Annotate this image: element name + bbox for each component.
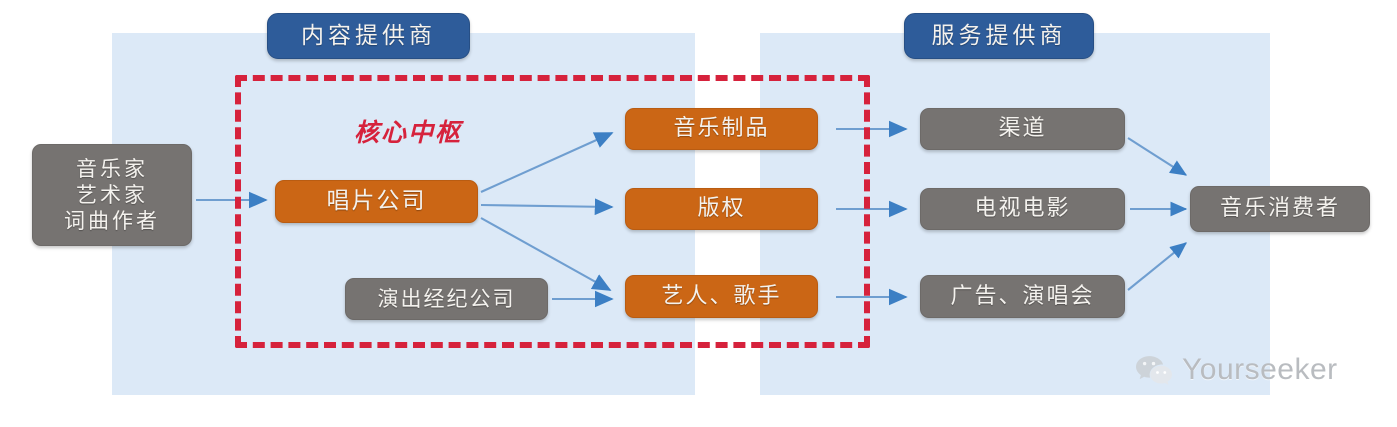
node-creators-line-1: 音乐家 (76, 156, 148, 182)
node-record-label: 唱片公司 (275, 180, 478, 223)
node-music-consumers: 音乐消费者 (1190, 186, 1370, 232)
node-creators-line-3: 词曲作者 (64, 208, 160, 234)
header-content-provider: 内容提供商 (267, 13, 470, 59)
node-copyright: 版权 (625, 188, 818, 230)
header-service-provider: 服务提供商 (904, 13, 1094, 59)
arrow-channels-to-consumers (1128, 138, 1186, 175)
diagram-canvas: 内容提供商 服务提供商 音乐家 艺术家 词曲作者 核心中枢 唱片公司 演出经纪公… (0, 0, 1397, 427)
node-creators-line-2: 艺术家 (76, 182, 148, 208)
node-channels: 渠道 (920, 108, 1125, 150)
node-artists-singers: 艺人、歌手 (625, 275, 818, 318)
node-performance-agency: 演出经纪公司 (345, 278, 548, 320)
watermark: Yourseeker (1135, 348, 1390, 392)
node-ads-concerts: 广告、演唱会 (920, 275, 1125, 318)
wechat-icon (1135, 354, 1173, 386)
node-tv-film: 电视电影 (920, 188, 1125, 230)
core-hub-label: 核心中枢 (318, 118, 498, 148)
node-creators: 音乐家 艺术家 词曲作者 (32, 144, 192, 246)
node-music-products: 音乐制品 (625, 108, 818, 150)
watermark-text: Yourseeker (1182, 353, 1338, 387)
arrow-adshows-to-consumers (1128, 243, 1186, 290)
